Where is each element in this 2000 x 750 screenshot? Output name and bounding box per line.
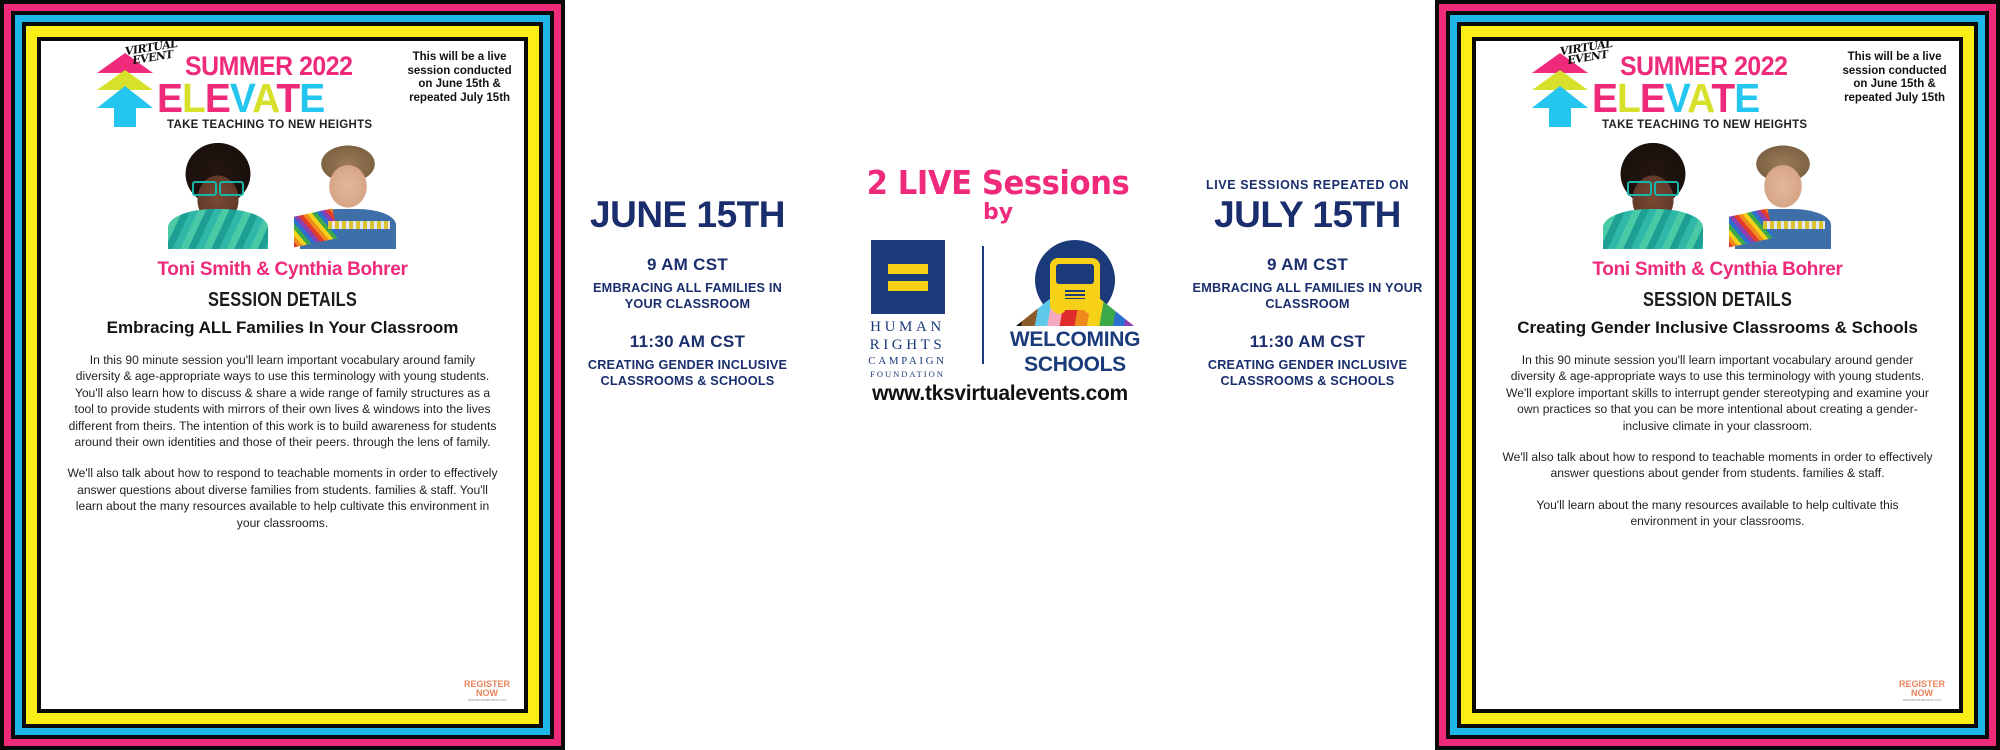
poster-header: VIRTUAL EVENT SUMMER 2022 ELEVATE TAKE T… <box>1484 45 1951 131</box>
elevate-letter-2: E <box>1640 75 1665 121</box>
register-line-2: NOW <box>476 689 498 698</box>
eyeglasses-icon <box>1627 181 1679 192</box>
elevate-letter-4: A <box>1687 75 1711 121</box>
hrc-text-line-4: FOUNDATION <box>848 368 968 380</box>
session-details-heading: SESSION DETAILS <box>84 289 480 312</box>
elevate-logo: VIRTUAL EVENT SUMMER 2022 ELEVATE TAKE T… <box>89 45 395 131</box>
register-now-button[interactable]: REGISTER NOW www.tksvirtualevents.com <box>458 679 516 703</box>
presenter-photo-cynthia-bohrer <box>1729 137 1837 249</box>
presenter-photo-toni-smith <box>1599 137 1707 249</box>
elevate-letter-5: T <box>1711 75 1734 121</box>
session-description: In this 90 minute session you'll learn i… <box>1502 352 1933 530</box>
virtual-event-script: VIRTUAL EVENT <box>122 41 182 67</box>
equality-equals-icon <box>871 240 945 314</box>
register-line-2: NOW <box>1911 689 1933 698</box>
elevate-tagline: TAKE TEACHING TO NEW HEIGHTS <box>1602 119 1807 131</box>
elevate-letter-1: L <box>182 75 205 121</box>
eyeglasses-icon <box>192 181 244 192</box>
elevate-letter-6: E <box>299 75 324 121</box>
elevate-letter-5: T <box>276 75 299 121</box>
promo-flyer-canvas: VIRTUAL EVENT SUMMER 2022 ELEVATE TAKE T… <box>0 0 2000 750</box>
presenter-names: Toni Smith & Cynthia Bohrer <box>1476 259 1959 281</box>
session-description: In this 90 minute session you'll learn i… <box>67 352 498 531</box>
july-kicker: LIVE SESSIONS REPEATED ON <box>1190 178 1425 192</box>
website-url[interactable]: www.tksvirtualevents.com <box>770 382 1230 406</box>
elevate-letter-3: V <box>230 75 252 121</box>
poster-card-left: VIRTUAL EVENT SUMMER 2022 ELEVATE TAKE T… <box>0 0 565 750</box>
presenter-photos <box>41 137 524 249</box>
elevate-letter-0: E <box>157 75 182 121</box>
live-session-note: This will be a live session conducted on… <box>403 51 516 105</box>
elevate-tagline: TAKE TEACHING TO NEW HEIGHTS <box>167 119 372 131</box>
human-rights-campaign-logo: HUMAN RIGHTS CAMPAIGN FOUNDATION <box>848 240 968 380</box>
presenter-names: Toni Smith & Cynthia Bohrer <box>41 259 524 281</box>
elevate-wordmark: ELEVATE <box>1592 78 1759 119</box>
poster-content-right: VIRTUAL EVENT SUMMER 2022 ELEVATE TAKE T… <box>1476 41 1959 709</box>
session-title: Creating Gender Inclusive Classrooms & S… <box>1510 317 1925 338</box>
elevate-letter-6: E <box>1734 75 1759 121</box>
july-slot1-description: EMBRACING ALL FAMILIES IN YOUR CLASSROOM <box>1190 280 1425 312</box>
june-slot2-time: 11:30 AM CST <box>575 332 800 352</box>
poster-card-right: VIRTUAL EVENT SUMMER 2022 ELEVATE TAKE T… <box>1435 0 2000 750</box>
elevate-letter-1: L <box>1617 75 1640 121</box>
logo-divider <box>982 246 984 364</box>
register-now-button[interactable]: REGISTER NOW www.tksvirtualevents.com <box>1893 679 1951 703</box>
session-paragraph: You'll learn about the many resources av… <box>1502 497 1933 530</box>
june-slot2-description: CREATING GENDER INCLUSIVE CLASSROOMS & S… <box>575 357 800 389</box>
july-slot2-time: 11:30 AM CST <box>1190 332 1425 352</box>
hrc-text-line-3: CAMPAIGN <box>848 354 968 368</box>
hrc-text-line-1: HUMAN <box>848 318 968 336</box>
elevate-letter-3: V <box>1665 75 1687 121</box>
welcoming-schools-line-2: SCHOOLS <box>998 353 1153 376</box>
session-title: Embracing ALL Families In Your Classroom <box>75 317 490 338</box>
virtual-event-script: VIRTUAL EVENT <box>1557 41 1617 67</box>
presenter-photo-toni-smith <box>164 137 272 249</box>
session-paragraph: In this 90 minute session you'll learn i… <box>67 352 498 450</box>
headline-line-2: by <box>813 201 1183 225</box>
rainbow-school-bus-icon <box>1016 240 1134 326</box>
elevate-letter-2: E <box>205 75 230 121</box>
session-paragraph: We'll also talk about how to respond to … <box>67 465 498 531</box>
june-date-heading: JUNE 15TH <box>575 195 800 235</box>
elevate-wordmark: ELEVATE <box>157 78 324 119</box>
june-slot1-time: 9 AM CST <box>575 255 800 275</box>
register-url: www.tksvirtualevents.com <box>468 698 507 703</box>
partner-logos: HUMAN RIGHTS CAMPAIGN FOUNDATION WELCOMI… <box>830 240 1170 380</box>
presenter-photos <box>1476 137 1959 249</box>
elevate-letter-4: A <box>252 75 276 121</box>
july-date-heading: JULY 15TH <box>1190 195 1425 235</box>
june-session-column: JUNE 15TH 9 AM CST EMBRACING ALL FAMILIE… <box>575 195 800 389</box>
hrc-text-line-2: RIGHTS <box>848 336 968 354</box>
session-details-heading: SESSION DETAILS <box>1519 289 1915 312</box>
headline-line-1: 2 LIVE Sessions <box>826 165 1170 201</box>
session-paragraph: In this 90 minute session you'll learn i… <box>1502 352 1933 434</box>
poster-content-left: VIRTUAL EVENT SUMMER 2022 ELEVATE TAKE T… <box>41 41 524 709</box>
presenter-photo-cynthia-bohrer <box>294 137 402 249</box>
july-slot2-description: CREATING GENDER INCLUSIVE CLASSROOMS & S… <box>1190 357 1425 389</box>
two-live-sessions-headline: 2 LIVE Sessions by <box>813 165 1183 225</box>
july-session-column: LIVE SESSIONS REPEATED ON JULY 15TH 9 AM… <box>1190 178 1425 389</box>
july-slot1-time: 9 AM CST <box>1190 255 1425 275</box>
center-info-panel: JUNE 15TH 9 AM CST EMBRACING ALL FAMILIE… <box>565 0 1435 750</box>
register-url: www.tksvirtualevents.com <box>1903 698 1942 703</box>
welcoming-schools-line-1: WELCOMING <box>998 328 1153 351</box>
session-paragraph: We'll also talk about how to respond to … <box>1502 449 1933 482</box>
june-slot1-description: EMBRACING ALL FAMILIES IN YOUR CLASSROOM <box>575 280 800 312</box>
elevate-letter-0: E <box>1592 75 1617 121</box>
poster-header: VIRTUAL EVENT SUMMER 2022 ELEVATE TAKE T… <box>49 45 516 131</box>
elevate-logo: VIRTUAL EVENT SUMMER 2022 ELEVATE TAKE T… <box>1524 45 1830 131</box>
live-session-note: This will be a live session conducted on… <box>1838 51 1951 105</box>
welcoming-schools-logo: WELCOMING SCHOOLS <box>998 240 1153 376</box>
